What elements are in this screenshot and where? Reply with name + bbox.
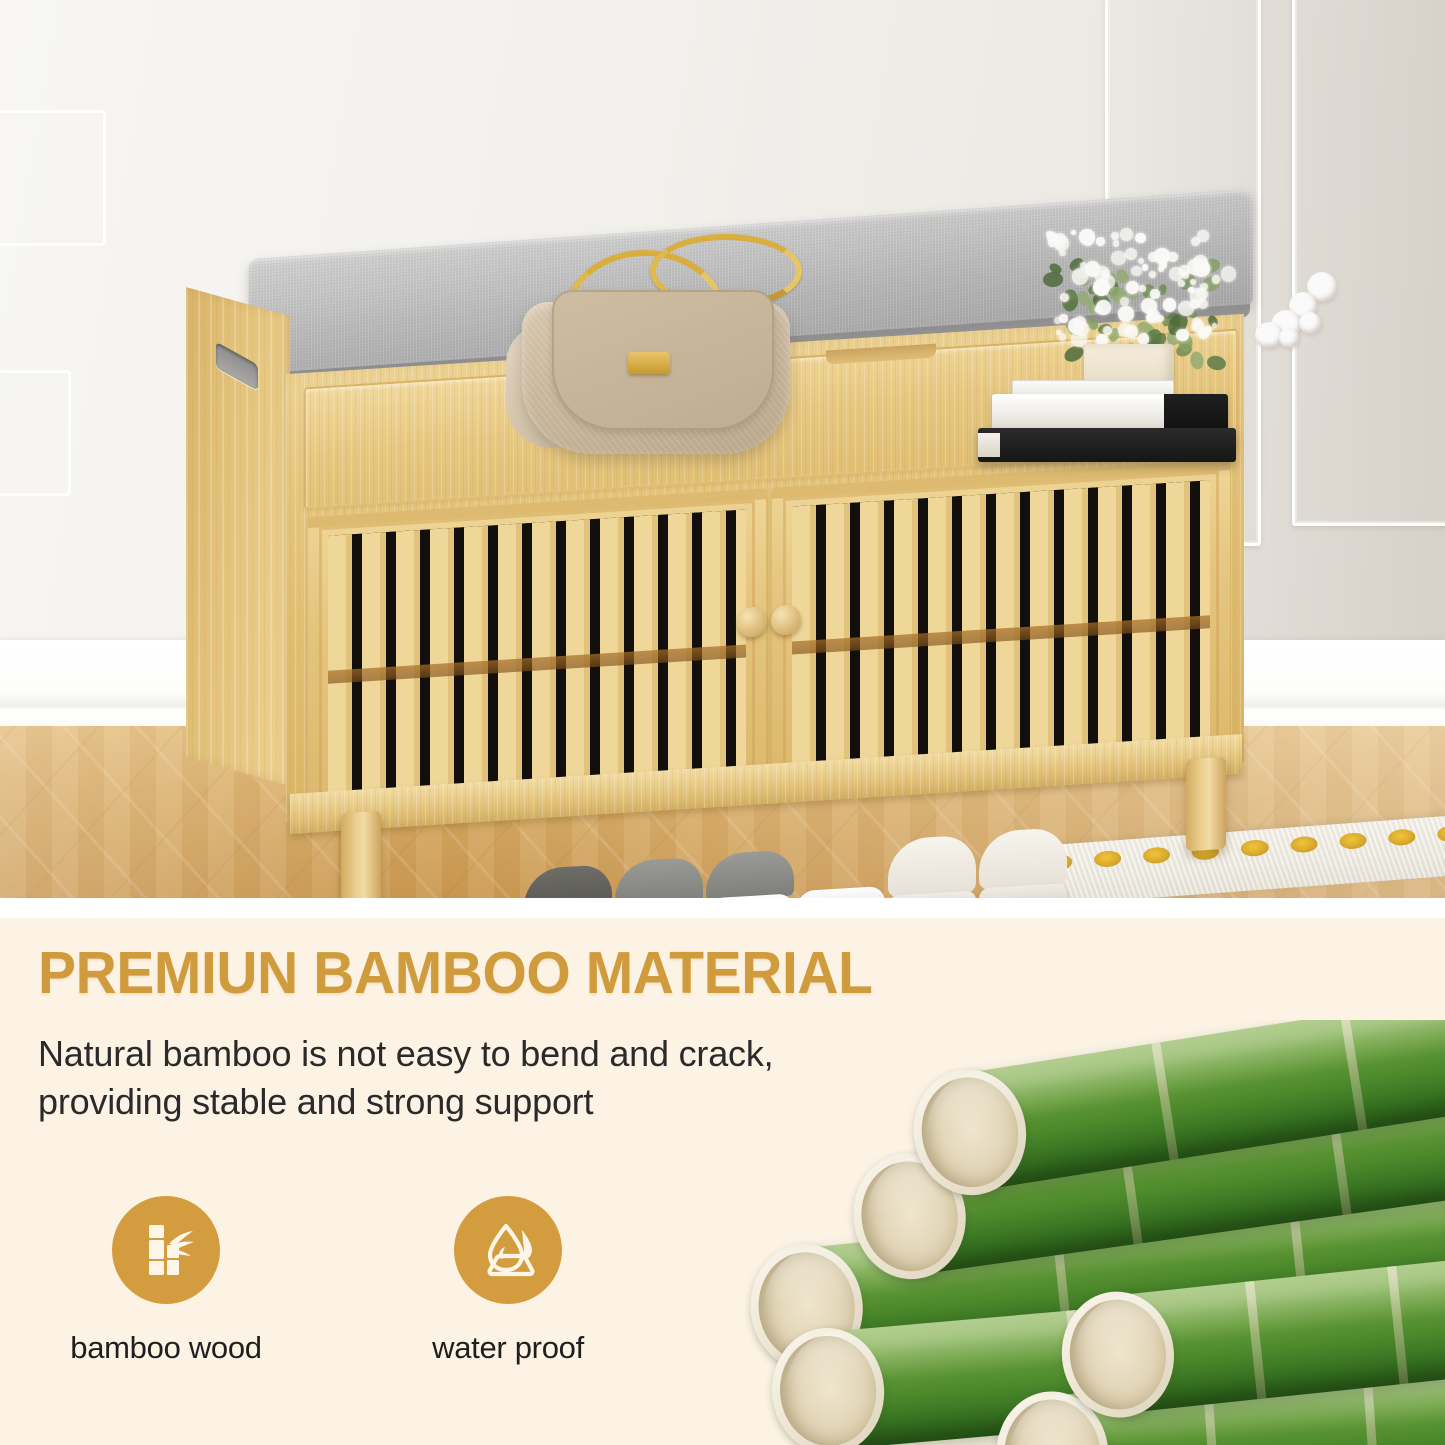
blossom	[1111, 251, 1126, 266]
shoe	[979, 827, 1067, 900]
feature-water-proof: water proof	[452, 1196, 564, 1366]
blossom	[1212, 323, 1217, 328]
door-slats	[328, 509, 746, 795]
badge-label: water proof	[432, 1330, 584, 1366]
blossom	[1190, 279, 1196, 285]
knob-left-icon	[737, 606, 767, 638]
blossom	[1168, 252, 1178, 262]
shoe	[615, 857, 703, 900]
headline: PREMIUN BAMBOO MATERIAL	[38, 944, 1061, 1003]
handbag	[500, 240, 800, 458]
blossom	[1141, 298, 1157, 314]
shoe-upper	[524, 864, 612, 900]
blossom	[1054, 317, 1061, 324]
wall-panel-molding	[0, 370, 71, 496]
badge-circle	[112, 1196, 220, 1304]
badge-circle	[454, 1196, 562, 1304]
shoe	[797, 842, 885, 900]
blossom	[1111, 232, 1119, 240]
blossom	[1204, 326, 1212, 334]
blossom	[1149, 271, 1155, 277]
wall-panel-molding	[1292, 0, 1445, 526]
blossom	[1113, 240, 1119, 246]
leaf	[1206, 354, 1227, 371]
door-slats	[792, 480, 1210, 766]
feature-badges: bamboo wood water proof	[110, 1196, 564, 1366]
blossom	[1118, 306, 1134, 322]
storage-bench	[170, 232, 1260, 832]
blossom	[1059, 333, 1066, 340]
book-pages	[978, 433, 1000, 457]
blossom	[1059, 250, 1066, 257]
rug-dot	[1241, 839, 1269, 857]
blossom	[1125, 248, 1137, 260]
blossom	[1120, 228, 1133, 241]
product-marketing-image: PREMIUN BAMBOO MATERIAL Natural bamboo i…	[0, 0, 1445, 1445]
blossom	[1096, 237, 1105, 246]
bamboo-stalk-icon	[135, 1219, 197, 1281]
water-drop-icon	[476, 1218, 540, 1282]
shoe-upper	[888, 835, 976, 898]
hero-photo-panel	[0, 0, 1445, 900]
bench-side-panel	[186, 287, 290, 786]
shoe-upper	[706, 849, 794, 900]
blossom	[1182, 272, 1189, 279]
books-and-plant	[960, 232, 1260, 482]
rug-dot	[1437, 825, 1445, 843]
book-white	[992, 394, 1228, 432]
leaf	[1062, 343, 1086, 365]
blossom	[1079, 229, 1096, 246]
shoe-upper	[615, 857, 703, 900]
blossom	[1163, 298, 1176, 311]
bag-clasp-icon	[628, 352, 670, 374]
blossom	[1150, 289, 1160, 299]
blossom	[1125, 325, 1137, 337]
blossom	[1071, 230, 1076, 235]
rug-dot	[1290, 836, 1318, 854]
bamboo-poles-photo	[745, 1020, 1445, 1445]
blossom	[1126, 281, 1139, 294]
shoe	[524, 864, 612, 900]
book-black	[978, 428, 1236, 462]
blossom	[1120, 297, 1129, 306]
blossom	[1054, 236, 1069, 251]
knob-right-icon	[771, 604, 801, 636]
blossom	[1193, 260, 1210, 277]
blossom	[1135, 233, 1146, 244]
bench-leg	[341, 811, 381, 900]
shoe-upper	[797, 842, 885, 893]
blossom	[1074, 321, 1089, 336]
shoe	[706, 849, 794, 900]
shoe-upper	[979, 827, 1067, 890]
blossom	[1176, 329, 1188, 341]
blossom	[1131, 266, 1142, 277]
blossom	[1142, 264, 1148, 270]
blossom	[1198, 299, 1208, 309]
ornate-scroll-molding-icon	[1255, 272, 1343, 354]
panel-divider	[0, 898, 1445, 918]
badge-label: bamboo wood	[70, 1330, 261, 1366]
book-spine	[1164, 394, 1228, 432]
feature-bamboo-wood: bamboo wood	[110, 1196, 222, 1366]
shoe	[888, 835, 976, 900]
blossom	[1094, 286, 1100, 292]
leaf	[1189, 350, 1205, 370]
leaf	[1042, 271, 1063, 286]
rug-dot	[1388, 828, 1416, 846]
blossom	[1191, 237, 1200, 246]
rug-dot	[1339, 832, 1367, 850]
blossom	[1138, 258, 1144, 264]
door-knobs	[737, 604, 801, 638]
blossom	[1221, 266, 1237, 282]
wall-panel-molding	[0, 110, 106, 246]
